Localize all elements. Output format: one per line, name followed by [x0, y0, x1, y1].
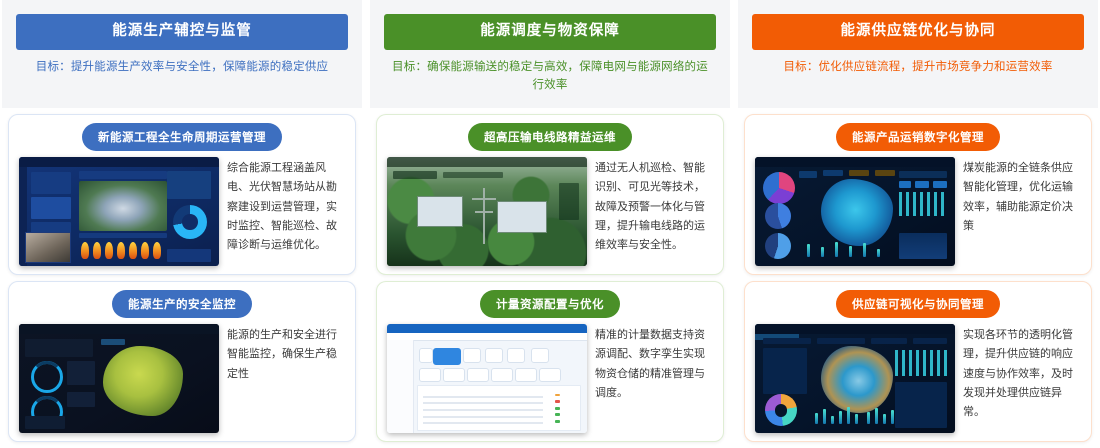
card-supplychain-visualization[interactable]: 供应链可视化与协同管理 — [744, 281, 1092, 442]
banner-title-supplychain: 能源供应链优化与协同 — [752, 14, 1084, 50]
card-title: 新能源工程全生命周期运营管理 — [82, 123, 282, 151]
column-dispatch: 能源调度与物资保障 目标：确保能源输送的稳定与高效，保障电网与能源网络的运行效率… — [370, 0, 730, 448]
screenshot-dark-map-sales-dashboard — [755, 157, 955, 266]
card-description: 煤炭能源的全链条供应智能化管理，优化运输效率，辅助能源定价决策 — [963, 157, 1081, 236]
card-description: 精准的计量数据支持资源调配、数字孪生实现物资仓储的精准管理与调度。 — [595, 324, 713, 403]
card-title: 能源产品运销数字化管理 — [836, 123, 1000, 151]
card-body: 煤炭能源的全链条供应智能化管理，优化运输效率，辅助能源定价决策 — [755, 157, 1081, 266]
banner-title-production: 能源生产辅控与监管 — [16, 14, 348, 50]
three-column-board: 能源生产辅控与监管 目标：提升能源生产效率与安全性，保障能源的稳定供应 新能源工… — [0, 0, 1100, 448]
card-title: 能源生产的安全监控 — [112, 290, 252, 318]
column-header-production: 能源生产辅控与监管 目标：提升能源生产效率与安全性，保障能源的稳定供应 — [2, 0, 362, 108]
card-new-energy-lifecycle[interactable]: 新能源工程全生命周期运营管理 — [8, 114, 356, 275]
screenshot-light-table-resource-dashboard — [387, 324, 587, 433]
card-body: 实现各环节的透明化管理，提升供应链的响应速度与协作效率，及时发现并处理供应链异常… — [755, 324, 1081, 433]
card-list-production: 新能源工程全生命周期运营管理 — [2, 108, 362, 448]
goal-text-production: 目标：提升能源生产效率与安全性，保障能源的稳定供应 — [32, 59, 333, 77]
card-description: 能源的生产和安全进行智能监控，确保生产稳定性 — [227, 324, 345, 384]
column-supplychain: 能源供应链优化与协同 目标：优化供应链流程，提升市场竞争力和运营效率 能源产品运… — [738, 0, 1098, 448]
column-header-dispatch: 能源调度与物资保障 目标：确保能源输送的稳定与高效，保障电网与能源网络的运行效率 — [370, 0, 730, 108]
card-transmission-line-maintenance[interactable]: 超高压输电线路精益运维 通 — [376, 114, 724, 275]
column-production: 能源生产辅控与监管 目标：提升能源生产效率与安全性，保障能源的稳定供应 新能源工… — [2, 0, 362, 448]
card-description: 通过无人机巡检、智能识别、可见光等技术，故障及预警一体化与管理，提升输电线路的运… — [595, 157, 713, 255]
screenshot-dark-map-supplychain-dashboard — [755, 324, 955, 433]
card-title: 超高压输电线路精益运维 — [468, 123, 632, 151]
card-body: 能源的生产和安全进行智能监控，确保生产稳定性 — [19, 324, 345, 433]
goal-text-dispatch: 目标：确保能源输送的稳定与高效，保障电网与能源网络的运行效率 — [384, 59, 716, 95]
screenshot-blue-plant-3d-dashboard — [19, 157, 219, 266]
card-title: 计量资源配置与优化 — [480, 290, 620, 318]
screenshot-dark-terrain-monitoring-dashboard — [19, 324, 219, 433]
card-body: 综合能源工程涵盖风电、光伏智慧场站从勘察建设到运营管理，实时监控、智能巡检、故障… — [19, 157, 345, 266]
screenshot-green-powerline-inspection-dashboard — [387, 157, 587, 266]
column-header-supplychain: 能源供应链优化与协同 目标：优化供应链流程，提升市场竞争力和运营效率 — [738, 0, 1098, 108]
card-title: 供应链可视化与协同管理 — [836, 290, 1000, 318]
card-body: 精准的计量数据支持资源调配、数字孪生实现物资仓储的精准管理与调度。 — [387, 324, 713, 433]
card-body: 通过无人机巡检、智能识别、可见光等技术，故障及预警一体化与管理，提升输电线路的运… — [387, 157, 713, 266]
card-list-supplychain: 能源产品运销数字化管理 — [738, 108, 1098, 448]
goal-text-supplychain: 目标：优化供应链流程，提升市场竞争力和运营效率 — [779, 59, 1056, 77]
banner-title-dispatch: 能源调度与物资保障 — [384, 14, 716, 50]
card-description: 综合能源工程涵盖风电、光伏智慧场站从勘察建设到运营管理，实时监控、智能巡检、故障… — [227, 157, 345, 255]
card-metering-resource-optimization[interactable]: 计量资源配置与优化 — [376, 281, 724, 442]
card-list-dispatch: 超高压输电线路精益运维 通 — [370, 108, 730, 448]
card-energy-sales-digital-management[interactable]: 能源产品运销数字化管理 — [744, 114, 1092, 275]
card-production-safety-monitoring[interactable]: 能源生产的安全监控 — [8, 281, 356, 442]
card-description: 实现各环节的透明化管理，提升供应链的响应速度与协作效率，及时发现并处理供应链异常… — [963, 324, 1081, 422]
